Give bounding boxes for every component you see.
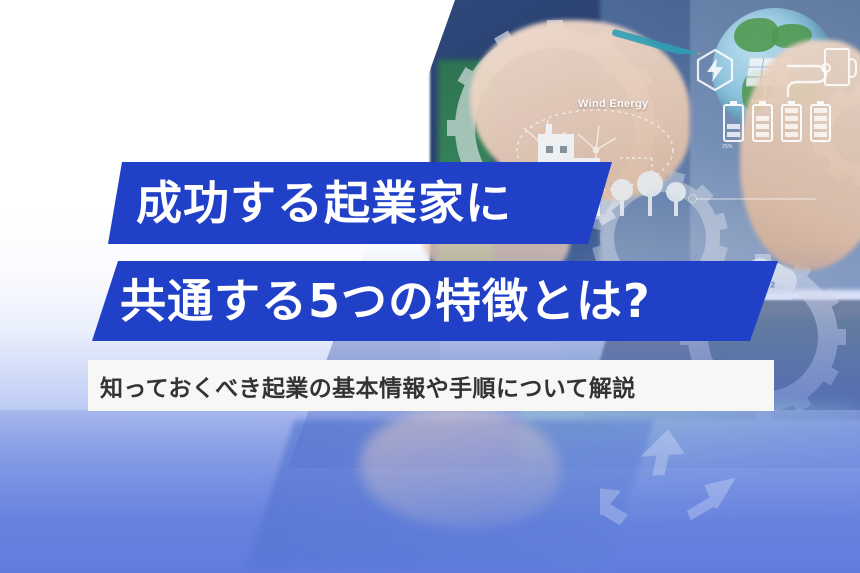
headline-band-2: 共通する5つの特徴とは? [84,261,778,341]
subtitle-box: 知っておくべき起業の基本情報や手順について解説 [88,360,774,411]
headline-line-2: 共通する5つの特徴とは? [120,278,651,324]
headline-band-1: 成功する起業家に [100,162,612,244]
recycle-icon [600,430,750,545]
subtitle-text: 知っておくべき起業の基本情報や手順について解説 [100,369,636,403]
banner-image: Wind Energy [0,0,860,573]
headline-line-1: 成功する起業家に [136,180,512,226]
